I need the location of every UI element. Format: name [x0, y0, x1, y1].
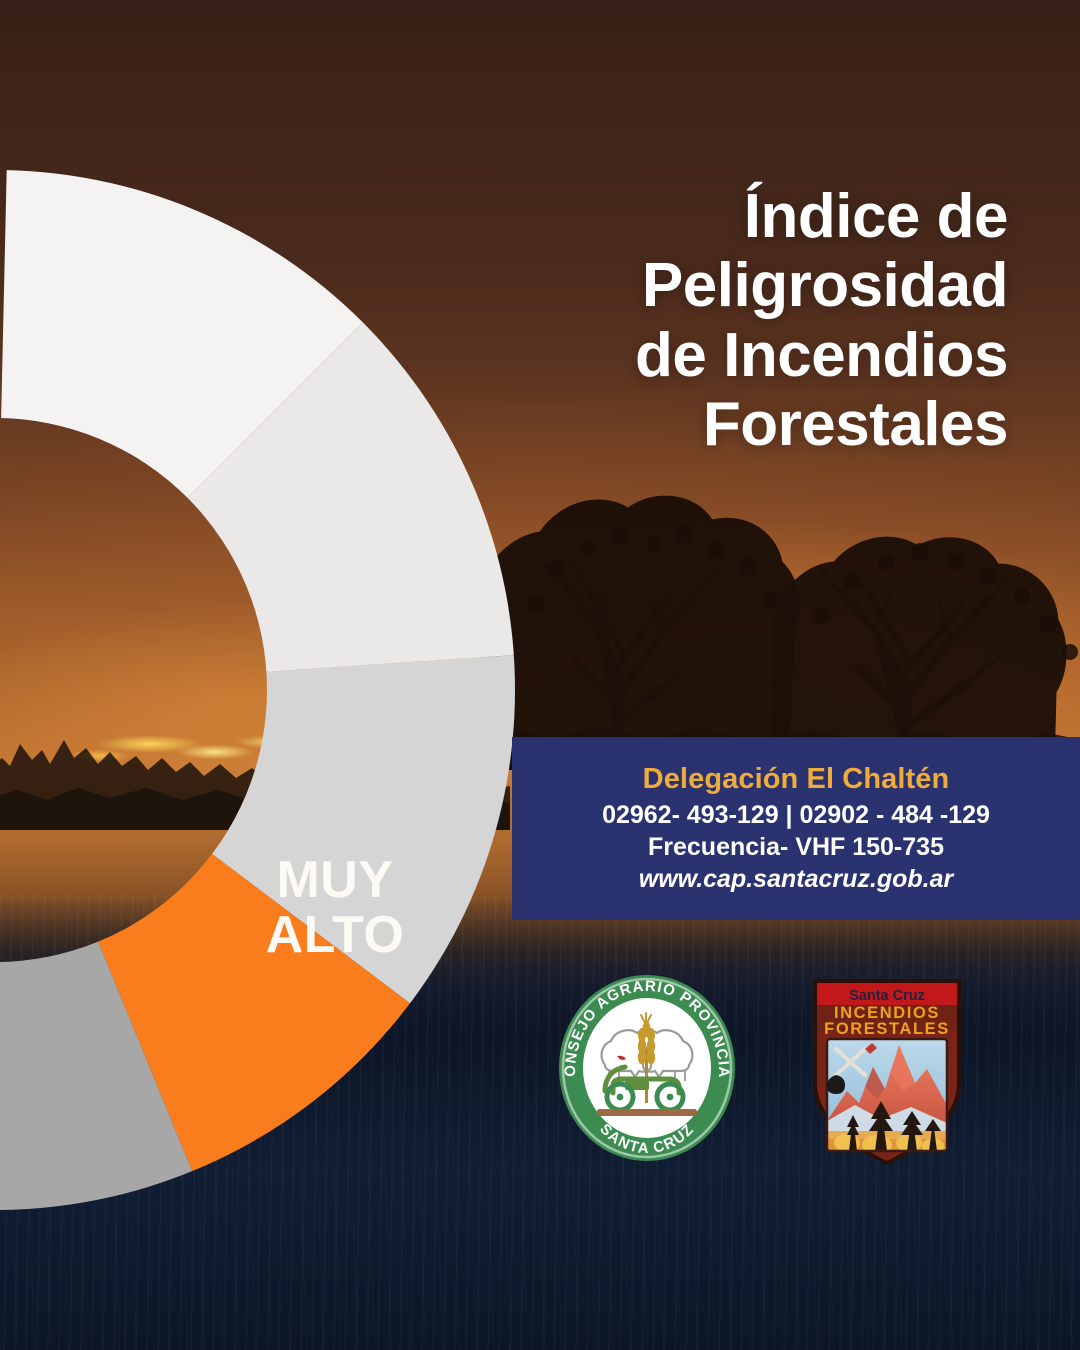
gauge-active-label: MUY ALTO: [215, 853, 455, 963]
poster-root: MUY ALTO Índice de Peligrosidad de Incen…: [0, 0, 1080, 1350]
contact-phones[interactable]: 02962- 493-129 | 02902 - 484 -129: [602, 801, 990, 830]
badge-title-line2: FORESTALES: [824, 1020, 950, 1038]
gauge-active-label-line1: MUY: [215, 853, 455, 908]
title-line-2: Peligrosidad: [448, 251, 1008, 320]
contact-organization: Delegación El Chaltén: [643, 763, 950, 796]
page-title: Índice de Peligrosidad de Incendios Fore…: [448, 182, 1008, 460]
contact-website[interactable]: www.cap.santacruz.gob.ar: [639, 865, 953, 894]
contact-panel: Delegación El Chaltén 02962- 493-129 | 0…: [512, 737, 1080, 920]
title-line-1: Índice de: [448, 182, 1008, 251]
title-line-3: de Incendios: [448, 321, 1008, 390]
badge-province: Santa Cruz: [849, 988, 925, 1004]
logo-row: CONSEJO AGRARIO PROVINCIAL SANTA CRUZ: [545, 965, 1015, 1175]
gauge-active-label-line2: ALTO: [215, 908, 455, 963]
consejo-agrario-provincial-logo: CONSEJO AGRARIO PROVINCIAL SANTA CRUZ: [557, 973, 737, 1163]
contact-frequency: Frecuencia- VHF 150-735: [648, 833, 944, 862]
incendios-forestales-badge: Santa Cruz INCENDIOS FORESTALES: [803, 971, 971, 1167]
title-line-4: Forestales: [448, 390, 1008, 459]
